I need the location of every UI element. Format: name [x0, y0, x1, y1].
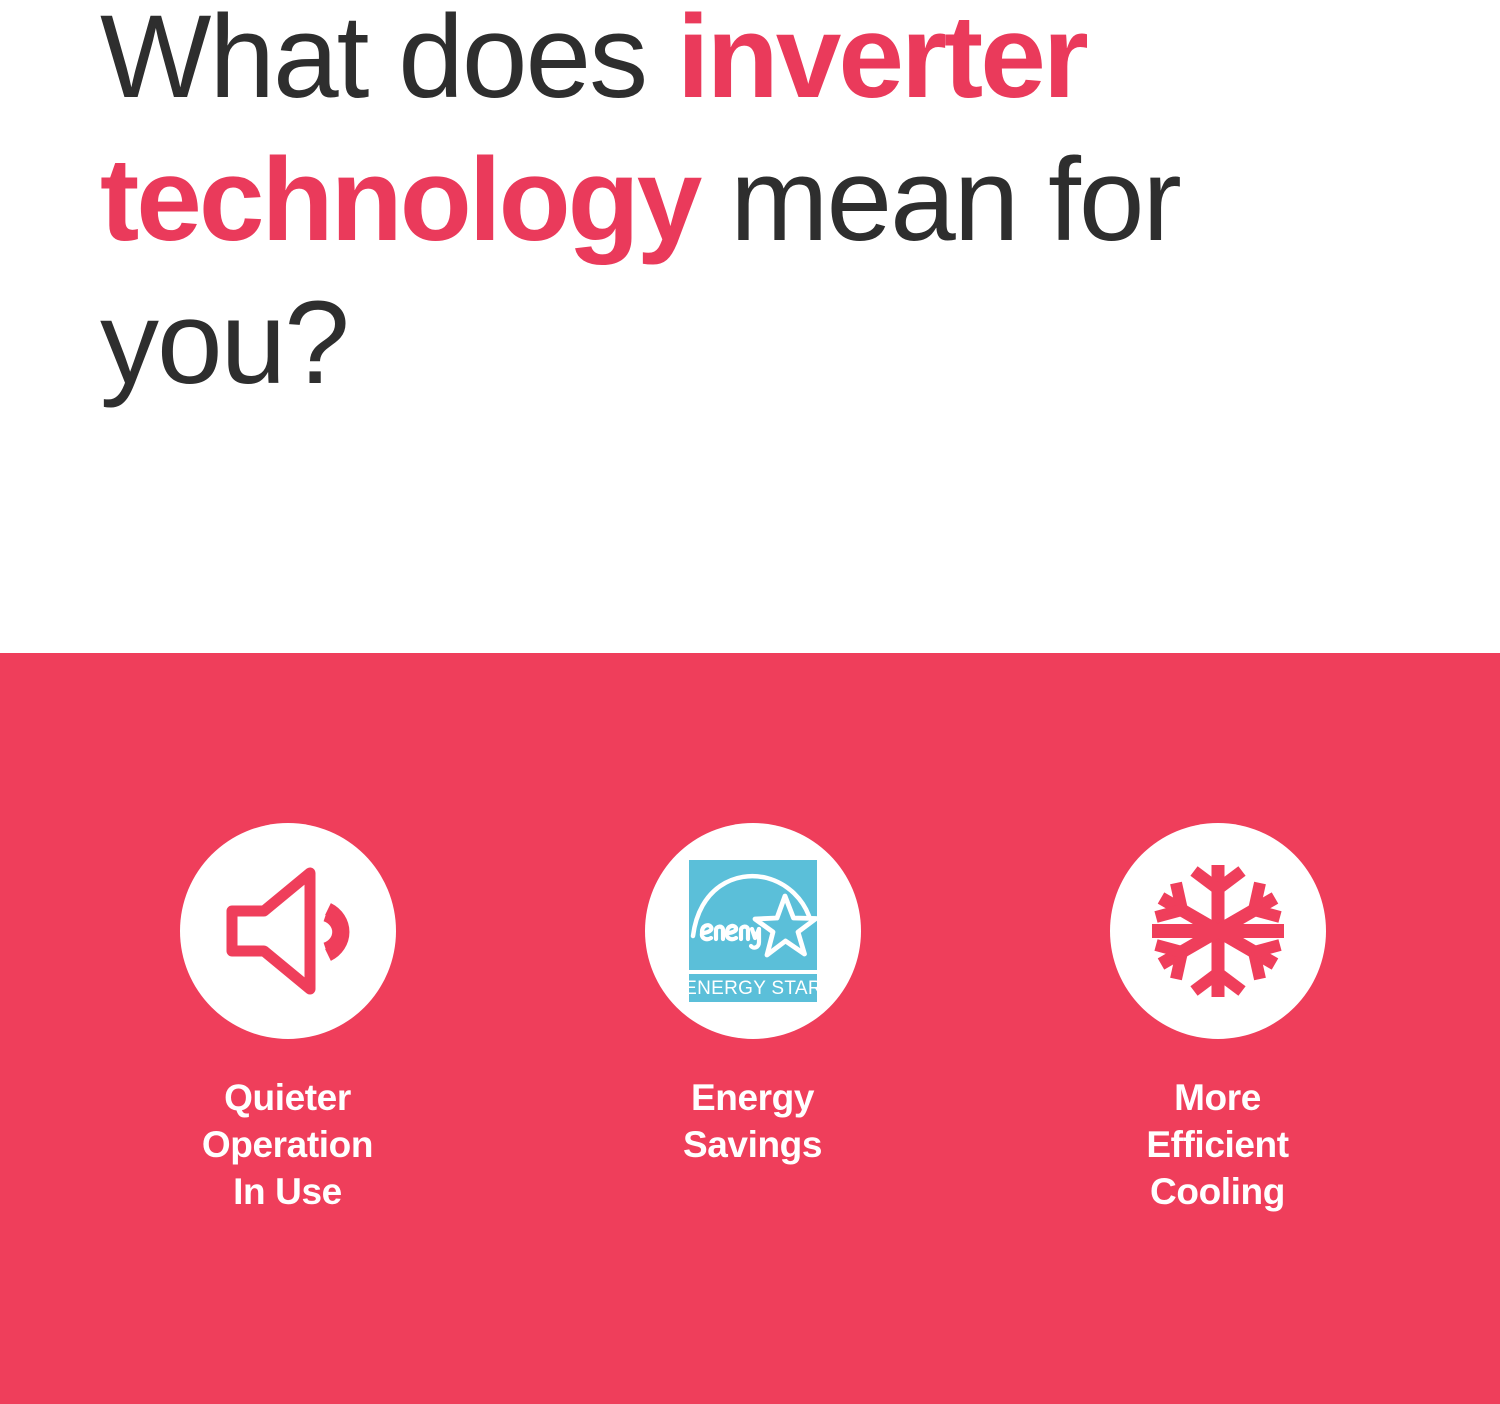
feature-energy-savings: ENERGY STAR Energy Savings — [520, 653, 985, 1168]
speaker-volume-icon — [218, 867, 358, 995]
icon-circle-speaker — [180, 823, 396, 1039]
caption-line: Energy — [543, 1074, 963, 1121]
headline-part-1: What does — [100, 0, 677, 123]
energy-star-logo: ENERGY STAR — [689, 860, 817, 1002]
caption-line: Savings — [543, 1121, 963, 1168]
caption-line: Operation — [78, 1121, 498, 1168]
feature-caption-energy-savings: Energy Savings — [543, 1074, 963, 1168]
icon-circle-energy-star: ENERGY STAR — [645, 823, 861, 1039]
caption-line: In Use — [78, 1168, 498, 1215]
caption-line: Quieter — [78, 1074, 498, 1121]
page-title: What does inverter technology mean for y… — [100, 0, 1430, 415]
feature-caption-quieter-operation: Quieter Operation In Use — [78, 1074, 498, 1215]
feature-list: Quieter Operation In Use — [0, 653, 1500, 1404]
headline-section: What does inverter technology mean for y… — [0, 0, 1500, 653]
feature-band: Quieter Operation In Use — [0, 653, 1500, 1404]
caption-line: More — [1008, 1074, 1428, 1121]
feature-caption-more-efficient-cooling: More Efficient Cooling — [1008, 1074, 1428, 1215]
caption-line: Efficient — [1008, 1121, 1428, 1168]
snowflake-icon — [1142, 855, 1294, 1007]
feature-quieter-operation: Quieter Operation In Use — [55, 653, 520, 1215]
infographic-page: What does inverter technology mean for y… — [0, 0, 1500, 1404]
energy-star-band-text: ENERGY STAR — [689, 978, 817, 999]
feature-more-efficient-cooling: More Efficient Cooling — [985, 653, 1450, 1215]
icon-circle-snowflake — [1110, 823, 1326, 1039]
caption-line: Cooling — [1008, 1168, 1428, 1215]
